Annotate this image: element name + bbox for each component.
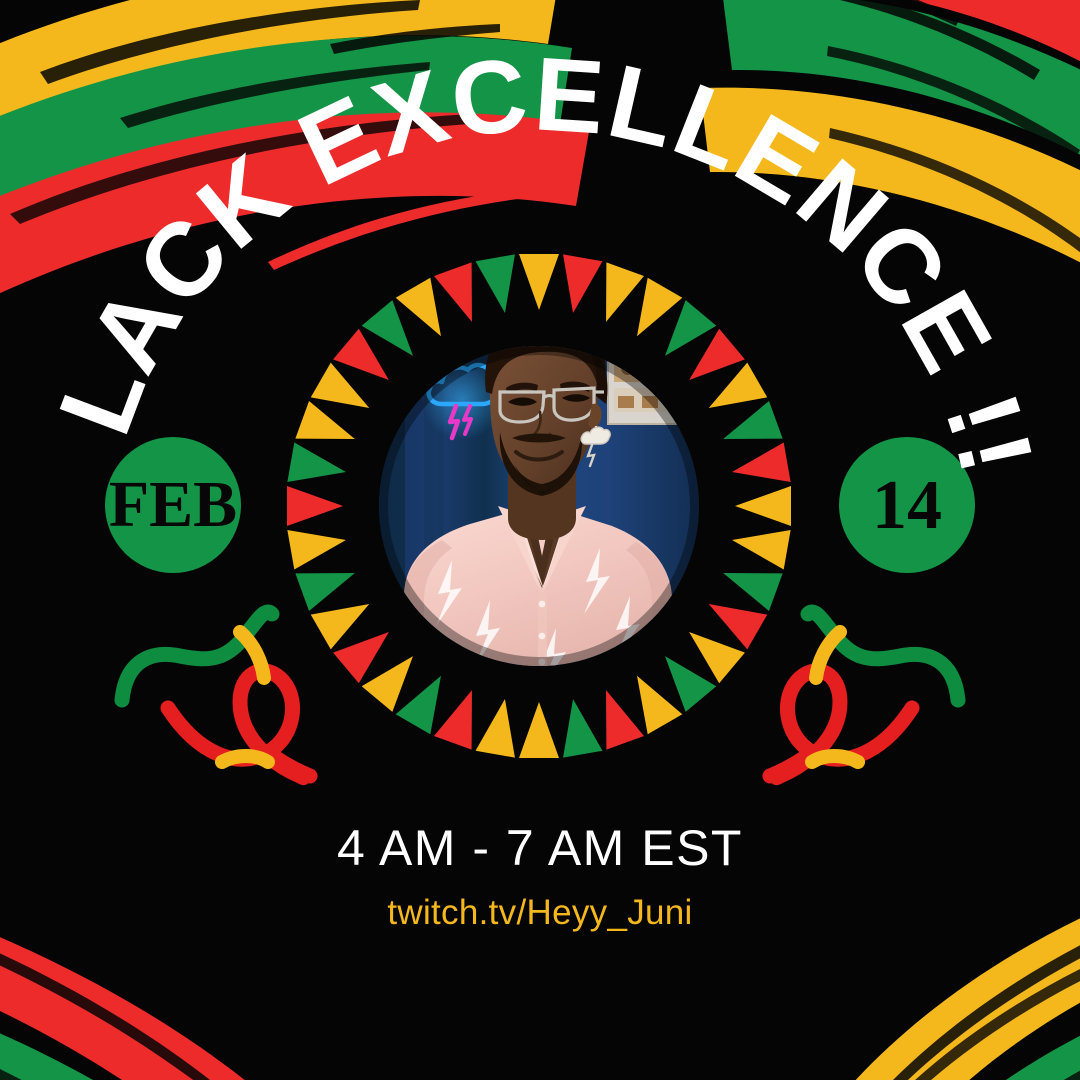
poster-canvas: FEB 14 BLACK EXCELLENCE !!! 4 AM - 7 AM …	[0, 0, 1080, 1080]
title-text: BLACK EXCELLENCE !!!	[0, 0, 1055, 486]
poster-title: BLACK EXCELLENCE !!!	[0, 0, 1080, 1080]
